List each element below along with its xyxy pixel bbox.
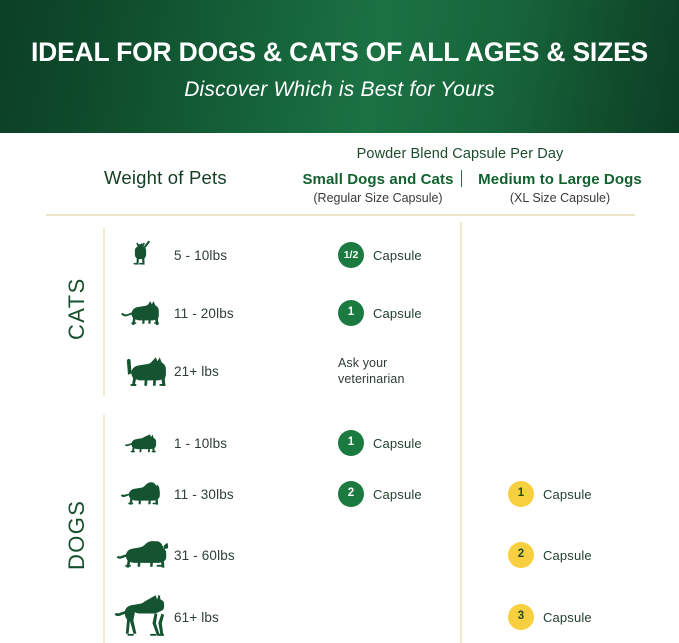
capsule-count-badge: 1 [338,300,364,326]
capsule-label: Capsule [373,306,422,321]
weight-label: 1 - 10lbs [174,414,227,472]
veterinarian-note: Ask your veterinarian [338,342,405,400]
capsule-count-badge: 1 [508,481,534,507]
dog-xlarge-icon [112,588,172,643]
cat-medium-icon [112,284,172,342]
dose-small-column: 2 Capsule [338,465,422,523]
capsule-count-badge: 2 [508,542,534,568]
capsule-label: Capsule [373,487,422,502]
column-subheader-xl-capsule: (XL Size Capsule) [470,191,650,205]
page-subtitle: Discover Which is Best for Yours [184,79,495,100]
table-row: 5 - 10lbs 1/2 Capsule [0,226,679,284]
weight-label: 31 - 60lbs [174,526,235,584]
column-header-powder-blend: Powder Blend Capsule Per Day [290,146,630,162]
capsule-label: Capsule [543,487,592,502]
page-title: IDEAL FOR DOGS & CATS OF ALL AGES & SIZE… [31,39,648,66]
table-row: 31 - 60lbs 2 Capsule [0,526,679,584]
capsule-count-badge: 2 [338,481,364,507]
weight-label: 11 - 20lbs [174,284,234,342]
header-rule [46,214,635,216]
capsule-label: Capsule [373,436,422,451]
column-subheader-regular-capsule: (Regular Size Capsule) [290,191,466,205]
dog-large-icon [112,526,172,584]
weight-label: 11 - 30lbs [174,465,234,523]
weight-label: 21+ lbs [174,342,219,400]
table-row: 21+ lbs Ask your veterinarian [0,342,679,400]
column-headers: Weight of Pets Powder Blend Capsule Per … [0,133,679,214]
dosage-chart-page: IDEAL FOR DOGS & CATS OF ALL AGES & SIZE… [0,0,679,643]
dog-medium-icon [112,465,172,523]
column-header-medium-large-dogs: Medium to Large Dogs [470,171,650,188]
table-row: 61+ lbs 3 Capsule [0,588,679,643]
table-row: 11 - 30lbs 2 Capsule 1 Capsule [0,465,679,523]
dose-large-column: 1 Capsule [508,465,592,523]
dog-small-icon [112,414,172,472]
dose-small-column: 1/2 Capsule [338,226,422,284]
capsule-label: Capsule [373,248,422,263]
capsule-count-badge: 1/2 [338,242,364,268]
header-divider-pipe [461,170,462,187]
dose-small-column: 1 Capsule [338,284,422,342]
veterinarian-note-line1: Ask your [338,355,405,372]
veterinarian-note-line2: veterinarian [338,371,405,388]
cat-large-icon [112,342,172,400]
capsule-count-badge: 3 [508,604,534,630]
dose-large-column: 2 Capsule [508,526,592,584]
cat-small-icon [112,226,172,284]
weight-label: 5 - 10lbs [174,226,227,284]
dose-large-column: 3 Capsule [508,588,592,643]
table-row: 1 - 10lbs 1 Capsule [0,414,679,472]
capsule-count-badge: 1 [338,430,364,456]
header-banner: IDEAL FOR DOGS & CATS OF ALL AGES & SIZE… [0,0,679,133]
weight-label: 61+ lbs [174,588,219,643]
dose-small-column: 1 Capsule [338,414,422,472]
column-header-weight: Weight of Pets [104,167,304,189]
column-header-small-dogs-cats: Small Dogs and Cats [290,171,466,188]
table-row: 11 - 20lbs 1 Capsule [0,284,679,342]
capsule-label: Capsule [543,548,592,563]
capsule-label: Capsule [543,610,592,625]
